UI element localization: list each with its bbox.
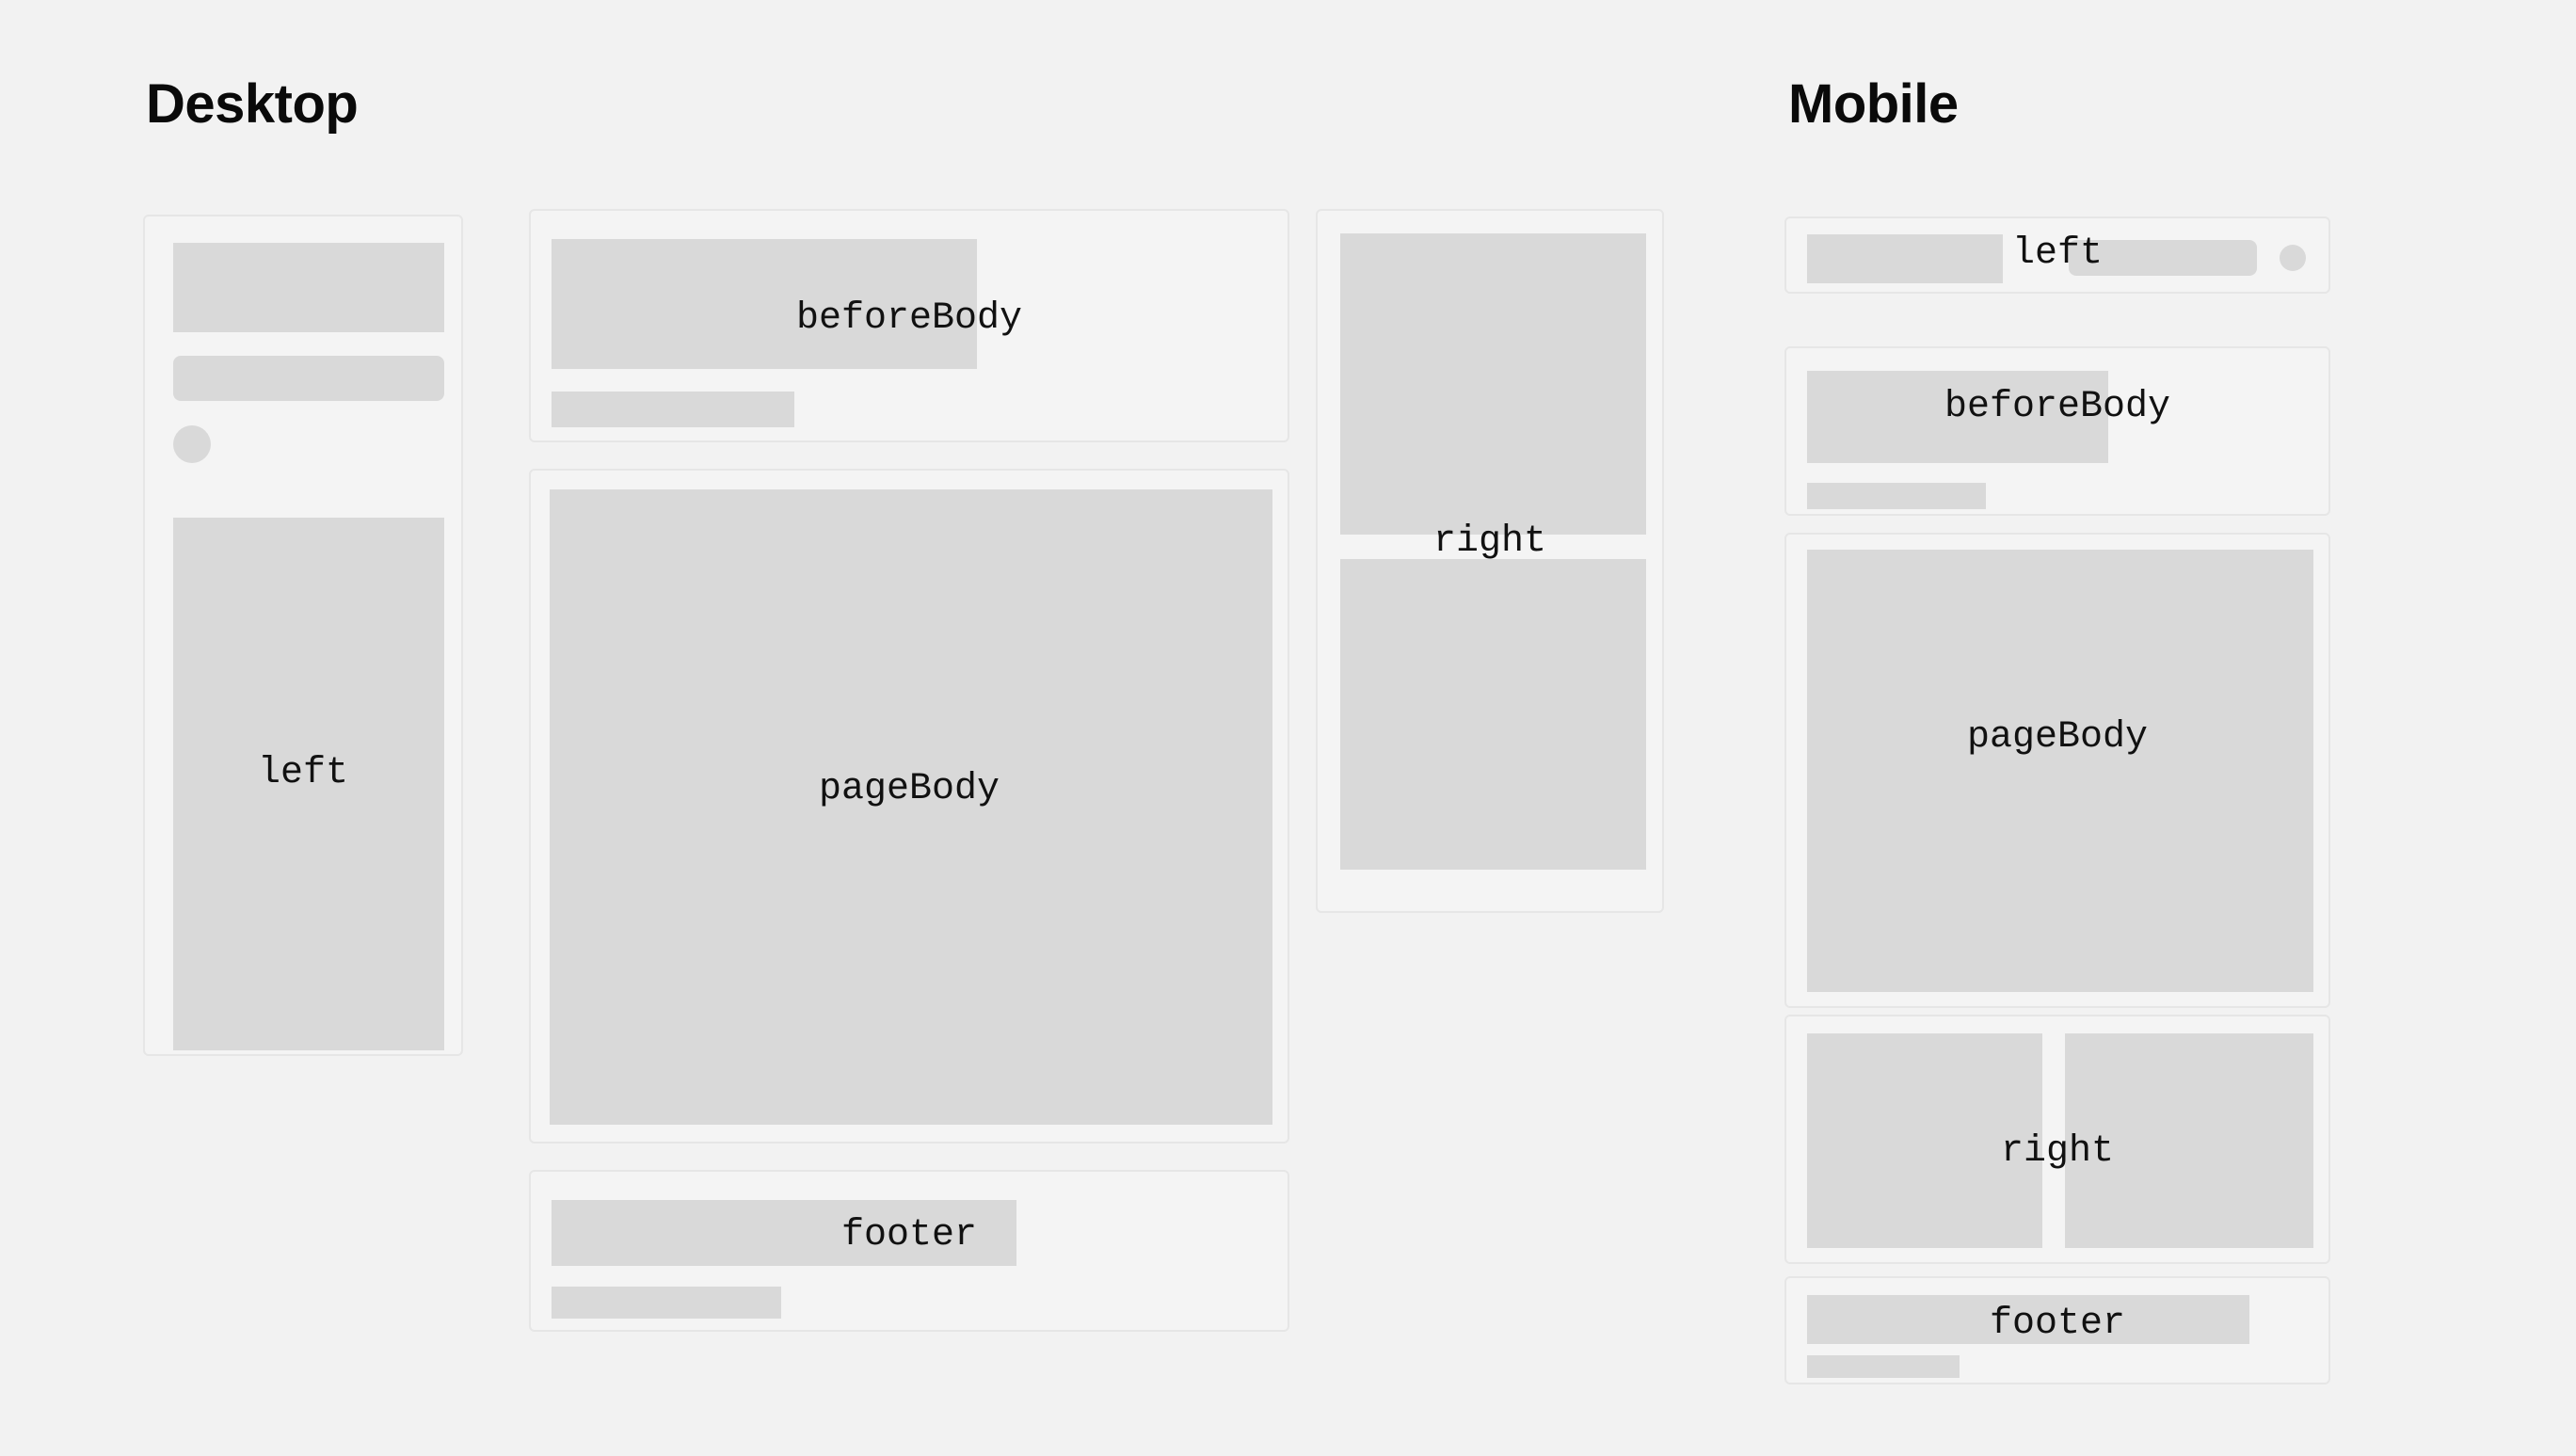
desktop-slot-right[interactable]: right — [1316, 209, 1664, 913]
skeleton-avatar-circle — [173, 425, 211, 463]
skeleton-bar — [173, 356, 444, 401]
skeleton-bar — [1807, 483, 1986, 509]
desktop-slot-right-inner: right — [1318, 211, 1662, 911]
skeleton-block-tall — [173, 518, 444, 1050]
skeleton-block — [173, 243, 444, 332]
desktop-slot-footer-inner: footer — [531, 1172, 1288, 1330]
desktop-slot-pagebody-inner: pageBody — [531, 471, 1288, 1142]
skeleton-block — [552, 239, 977, 369]
skeleton-avatar-circle — [2280, 245, 2306, 271]
desktop-slot-pagebody[interactable]: pageBody — [529, 469, 1289, 1144]
mobile-slot-left[interactable]: left — [1784, 216, 2330, 294]
desktop-slot-left-inner: left — [145, 216, 461, 1054]
skeleton-block — [1340, 233, 1646, 535]
desktop-slot-footer[interactable]: footer — [529, 1170, 1289, 1332]
page-title-mobile: Mobile — [1788, 77, 1959, 132]
skeleton-bar — [552, 1287, 781, 1319]
mobile-slot-right[interactable]: right — [1784, 1015, 2330, 1264]
skeleton-block — [1807, 1295, 2249, 1344]
mobile-slot-beforebody[interactable]: beforeBody — [1784, 346, 2330, 516]
skeleton-block — [550, 489, 1272, 1125]
skeleton-bar — [552, 392, 794, 427]
skeleton-block — [1807, 1033, 2042, 1248]
skeleton-block — [2065, 1033, 2313, 1248]
mobile-slot-footer-inner: footer — [1786, 1278, 2328, 1383]
desktop-slot-beforebody-inner: beforeBody — [531, 211, 1288, 440]
mobile-slot-pagebody-inner: pageBody — [1786, 535, 2328, 1006]
page-title-desktop: Desktop — [146, 77, 358, 132]
mobile-slot-left-inner: left — [1786, 218, 2328, 292]
mobile-slot-beforebody-inner: beforeBody — [1786, 348, 2328, 514]
desktop-slot-left[interactable]: left — [143, 215, 463, 1056]
mobile-slot-right-inner: right — [1786, 1016, 2328, 1262]
skeleton-bar — [1807, 1355, 1960, 1378]
skeleton-block — [1807, 550, 2313, 992]
skeleton-block — [552, 1200, 1016, 1266]
skeleton-block — [1807, 371, 2108, 463]
mobile-slot-pagebody[interactable]: pageBody — [1784, 533, 2330, 1008]
skeleton-block — [1807, 234, 2003, 283]
mobile-slot-footer[interactable]: footer — [1784, 1276, 2330, 1384]
skeleton-bar — [2069, 240, 2257, 276]
skeleton-block — [1340, 559, 1646, 870]
desktop-slot-beforebody[interactable]: beforeBody — [529, 209, 1289, 442]
